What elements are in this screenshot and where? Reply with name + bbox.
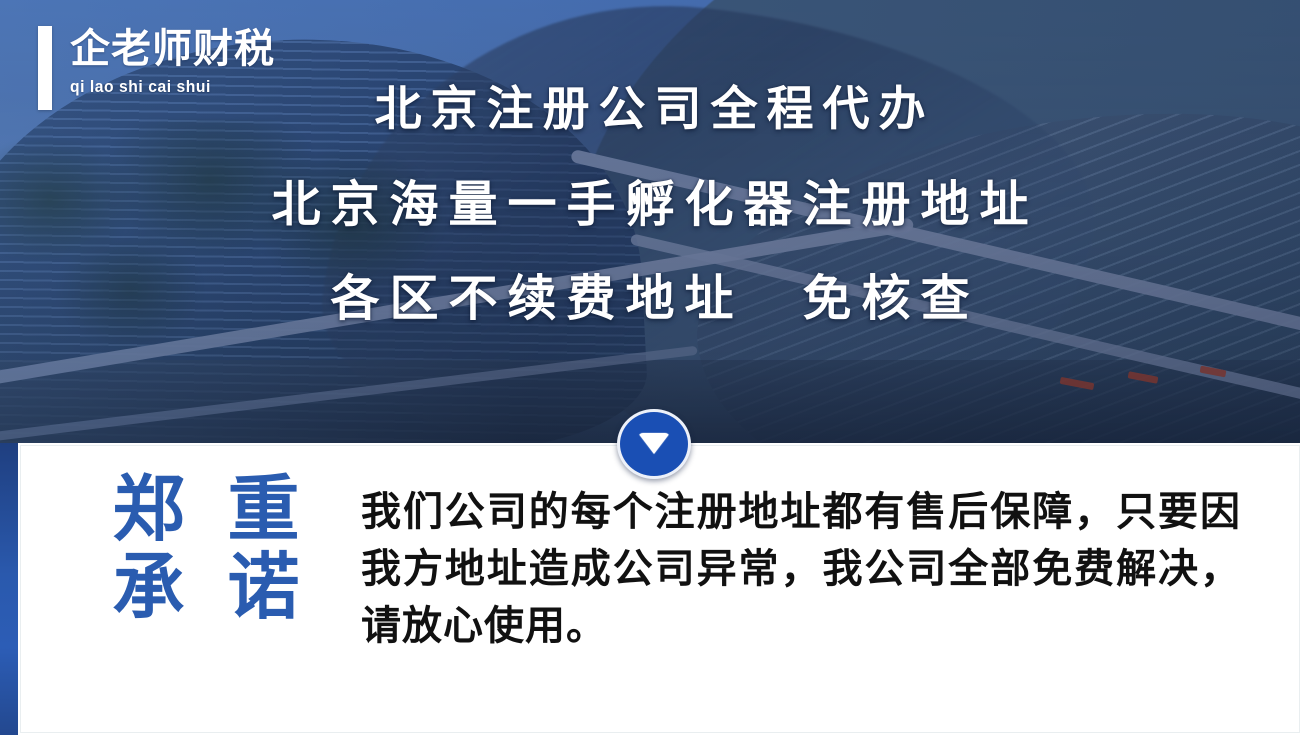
page-root: 企老师财税 qi lao shi cai shui 北京注册公司全程代办 北京海… (0, 0, 1300, 735)
scroll-down-badge[interactable] (617, 409, 691, 479)
brand-name-cn: 企老师财税 (70, 28, 275, 70)
hero-headline-2: 北京海量一手孵化器注册地址 (0, 180, 1300, 229)
brand-logo[interactable]: 企老师财税 qi lao shi cai shui (38, 26, 275, 110)
promise-card: 郑 重 承 诺 我们公司的每个注册地址都有售后保障，只要因我方地址造成公司异常，… (20, 445, 1300, 733)
promise-char-3: 承 (96, 554, 201, 620)
promise-char-1: 郑 (96, 476, 201, 542)
promise-char-2: 重 (211, 476, 316, 542)
hero-headline-3: 各区不续费地址 免核查 (0, 274, 1300, 323)
brand-name-pinyin: qi lao shi cai shui (70, 77, 259, 97)
triangle-down-icon (638, 433, 670, 454)
hero-headline-group: 北京注册公司全程代办 北京海量一手孵化器注册地址 各区不续费地址 免核查 (0, 86, 1300, 323)
logo-text-block: 企老师财税 qi lao shi cai shui (70, 26, 275, 97)
panel-accent-bar (0, 443, 18, 735)
hero-banner: 企老师财税 qi lao shi cai shui 北京注册公司全程代办 北京海… (0, 0, 1300, 443)
promise-body-text: 我们公司的每个注册地址都有售后保障，只要因我方地址造成公司异常，我公司全部免费解… (361, 484, 1241, 654)
promise-char-4: 诺 (211, 554, 316, 620)
promise-panel: 郑 重 承 诺 我们公司的每个注册地址都有售后保障，只要因我方地址造成公司异常，… (0, 443, 1300, 735)
promise-title: 郑 重 承 诺 (96, 476, 316, 620)
logo-accent-bar (38, 26, 52, 110)
